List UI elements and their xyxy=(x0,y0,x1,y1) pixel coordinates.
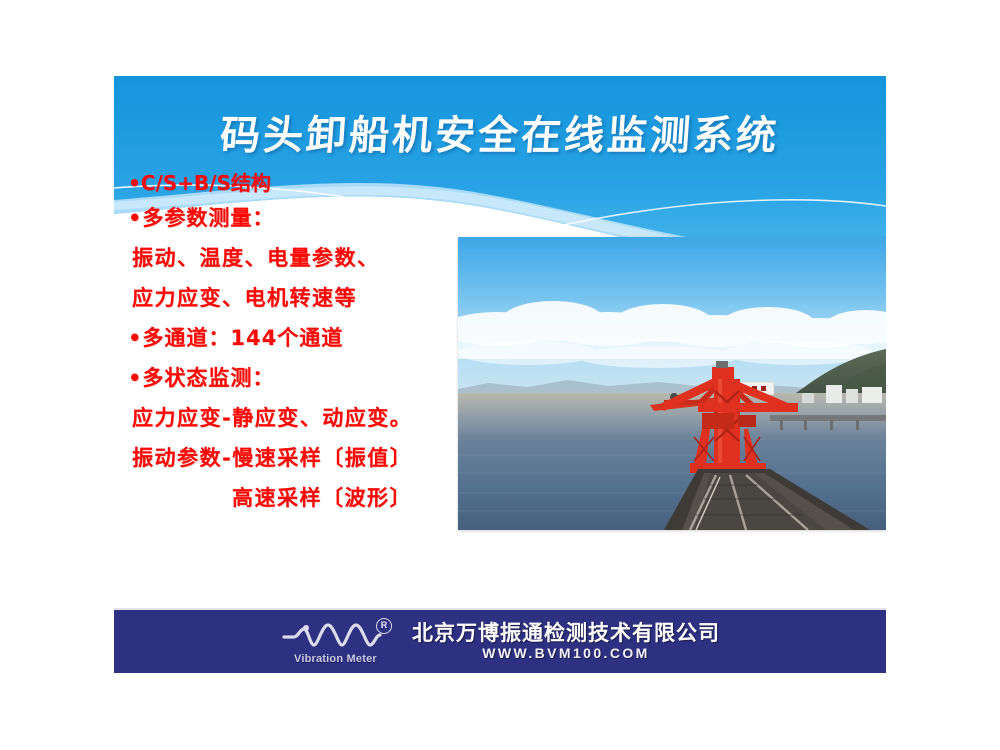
bullet-multi-state: •多状态监测： xyxy=(128,358,478,398)
bullet-state-2: 振动参数-慢速采样〔振值〕 xyxy=(128,438,478,478)
bullet-state-1: 应力应变-静应变、动应变。 xyxy=(128,398,478,438)
ship-unloader-photo xyxy=(458,237,886,530)
registered-trademark-icon: R xyxy=(376,618,392,634)
bullet-param-1: 振动、温度、电量参数、 xyxy=(128,238,478,278)
company-name: 北京万博振通检测技术有限公司 xyxy=(412,622,720,644)
vibration-meter-logo: R Vibration Meter xyxy=(280,619,398,665)
bullet-multi-param: •多参数测量： xyxy=(128,198,478,238)
bullet-state-3: 高速采样〔波形〕 xyxy=(128,478,478,518)
bullet-param-2: 应力应变、电机转速等 xyxy=(128,278,478,318)
page-title: 码头卸船机安全在线监测系统 xyxy=(114,103,886,161)
bullet-structure: •C/S+B/S结构 xyxy=(128,168,478,198)
logo-wordmark: Vibration Meter xyxy=(294,653,377,665)
bullet-channels: •多通道：144个通道 xyxy=(128,318,478,358)
footer-bar: R Vibration Meter 北京万博振通检测技术有限公司 WWW.BVM… xyxy=(114,608,886,673)
footer-company-block: 北京万博振通检测技术有限公司 WWW.BVM100.COM xyxy=(412,622,720,661)
slide-canvas: 码头卸船机安全在线监测系统 •C/S+B/S结构 •多参数测量： 振动、温度、电… xyxy=(114,76,886,673)
company-website[interactable]: WWW.BVM100.COM xyxy=(412,645,720,661)
bullet-list: •C/S+B/S结构 •多参数测量： 振动、温度、电量参数、 应力应变、电机转速… xyxy=(128,168,478,518)
